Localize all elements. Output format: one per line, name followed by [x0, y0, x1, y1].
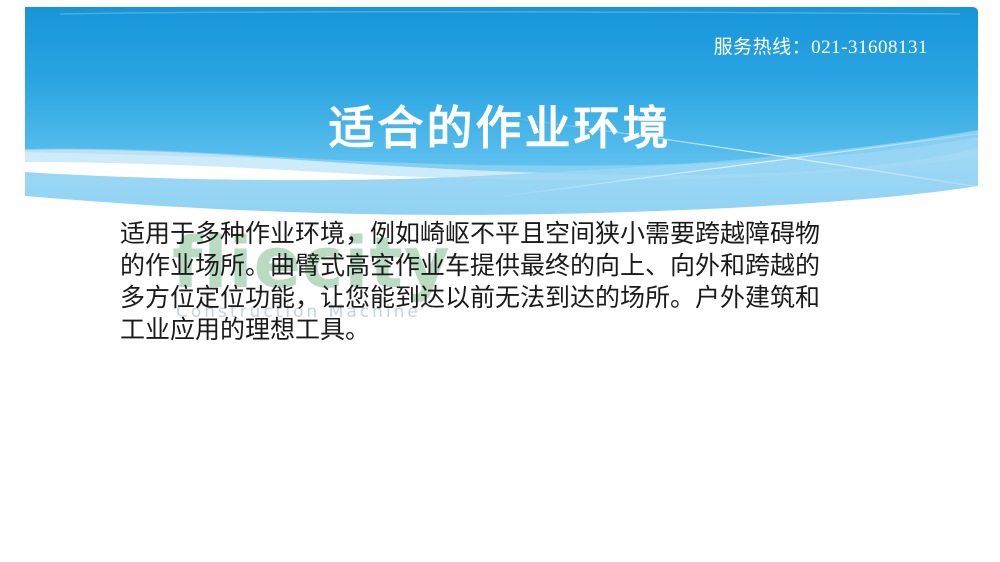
body-paragraph: 适用于多种作业环境，例如崎岖不平且空间狭小需要跨越障碍物 的作业场所。曲臂式高空… [120, 219, 910, 347]
service-hotline-text: 服务热线：021-31608131 [714, 32, 928, 59]
body-line: 工业应用的理想工具。 [120, 315, 910, 347]
body-line: 多方位定位功能，让您能到达以前无法到达的场所。户外建筑和 [120, 283, 910, 315]
body-line: 适用于多种作业环境，例如崎岖不平且空间狭小需要跨越障碍物 [120, 219, 910, 251]
presentation-slide: 服务热线：021-31608131 适合的作业环境 fliecity Const… [0, 0, 1000, 562]
slide-title: 适合的作业环境 [0, 92, 1000, 158]
body-line: 的作业场所。曲臂式高空作业车提供最终的向上、向外和跨越的 [120, 251, 910, 283]
